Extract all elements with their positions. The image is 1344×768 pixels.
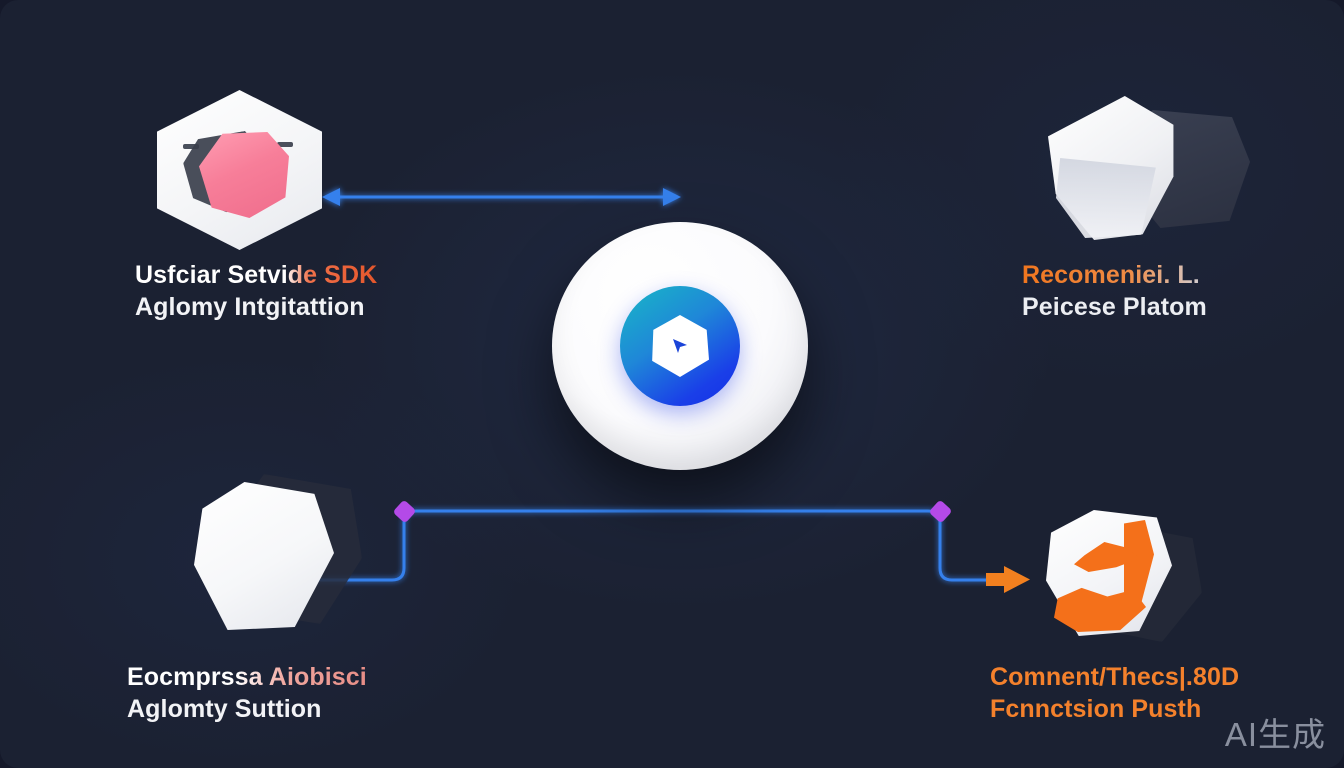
label-bottom-right: Comnent/Thecs|.80D Fcnnctsion Pusth xyxy=(990,661,1239,725)
label-bottom-left-line2: Aglomty Suttion xyxy=(127,693,367,725)
bidirectional-arrow xyxy=(322,188,681,206)
hexagon-cursor-icon xyxy=(651,315,709,377)
label-bottom-left: Eocmprssa Aiobisci Aglomty Suttion xyxy=(127,661,367,725)
junction-node-right xyxy=(928,499,952,523)
junction-node-left xyxy=(392,499,416,523)
label-top-left: Usfciar Setvide SDK Aglomy Intgitattion xyxy=(135,259,377,323)
node-icon-top-left[interactable] xyxy=(157,90,322,250)
label-bottom-right-line2: Fcnnctsion Pusth xyxy=(990,693,1239,725)
bottom-bus-line xyxy=(310,511,992,580)
diagram-canvas: Usfciar Setvide SDK Aglomy Intgitattion … xyxy=(0,0,1344,768)
core-gradient-ring xyxy=(620,286,740,406)
label-bottom-right-line1: Comnent/Thecs|.80D xyxy=(990,661,1239,693)
label-top-right-line1: Recomeniei. L. xyxy=(1022,259,1207,291)
label-top-right: Recomeniei. L. Peicese Platom xyxy=(1022,259,1207,323)
orange-arrow-head xyxy=(986,566,1030,593)
node-icon-bottom-right[interactable] xyxy=(1040,506,1210,646)
label-top-right-line2: Peicese Platom xyxy=(1022,291,1207,323)
ai-watermark: AI生成 xyxy=(1225,708,1326,756)
label-top-left-line1: Usfciar Setvide SDK xyxy=(135,259,377,291)
label-bottom-left-line1: Eocmprssa Aiobisci xyxy=(127,661,367,693)
label-top-left-line2: Aglomy Intgitattion xyxy=(135,291,377,323)
node-icon-top-right[interactable] xyxy=(1040,96,1250,246)
node-icon-bottom-left[interactable] xyxy=(180,468,370,638)
core-sphere[interactable] xyxy=(552,222,808,470)
